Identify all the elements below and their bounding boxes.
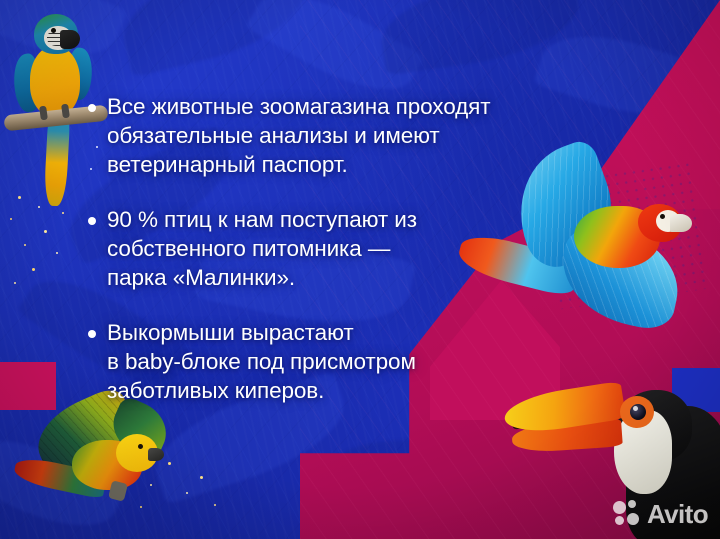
bullet-dot-icon: [88, 217, 96, 225]
bullet-dot-icon: [88, 330, 96, 338]
flying-macaw-beak: [670, 214, 692, 232]
bullet-item-2: 90 % птиц к нам поступают из собственног…: [88, 205, 540, 292]
conure-beak: [148, 448, 164, 461]
flying-macaw-eye: [660, 214, 665, 219]
macaw-body: [30, 46, 80, 116]
bullet-3-line-2: в baby-блоке под присмотром: [107, 347, 540, 376]
conure-foot: [108, 480, 128, 501]
bullet-2-line-1: 90 % птиц к нам поступают из: [107, 205, 540, 234]
avito-logo-icon: [613, 500, 640, 527]
bullet-1-line-2: обязательные анализы и имеют: [107, 121, 540, 150]
bullet-item-3: Выкормыши вырастают в baby-блоке под при…: [88, 318, 540, 405]
avito-watermark: Avito: [613, 500, 708, 527]
conure-eye: [138, 444, 143, 449]
bullet-list: Все животные зоомагазина проходят обязат…: [88, 92, 540, 405]
bullet-item-1: Все животные зоомагазина проходят обязат…: [88, 92, 540, 179]
bullet-1-line-3: ветеринарный паспорт.: [107, 150, 540, 179]
promo-slide: Все животные зоомагазина проходят обязат…: [0, 0, 720, 539]
bullet-dot-icon: [88, 104, 96, 112]
conure-image: [18, 400, 198, 530]
bullet-2-line-3: парка «Малинки».: [107, 263, 540, 292]
bullet-3-line-3: заботливых киперов.: [107, 376, 540, 405]
macaw-eye: [51, 28, 56, 33]
toucan-eye: [630, 404, 646, 420]
bullet-2-line-2: собственного питомника —: [107, 234, 540, 263]
bullet-1-line-1: Все животные зоомагазина проходят: [107, 92, 540, 121]
avito-brand-text: Avito: [647, 501, 708, 527]
bullet-3-line-1: Выкормыши вырастают: [107, 318, 540, 347]
macaw-beak: [60, 30, 80, 49]
